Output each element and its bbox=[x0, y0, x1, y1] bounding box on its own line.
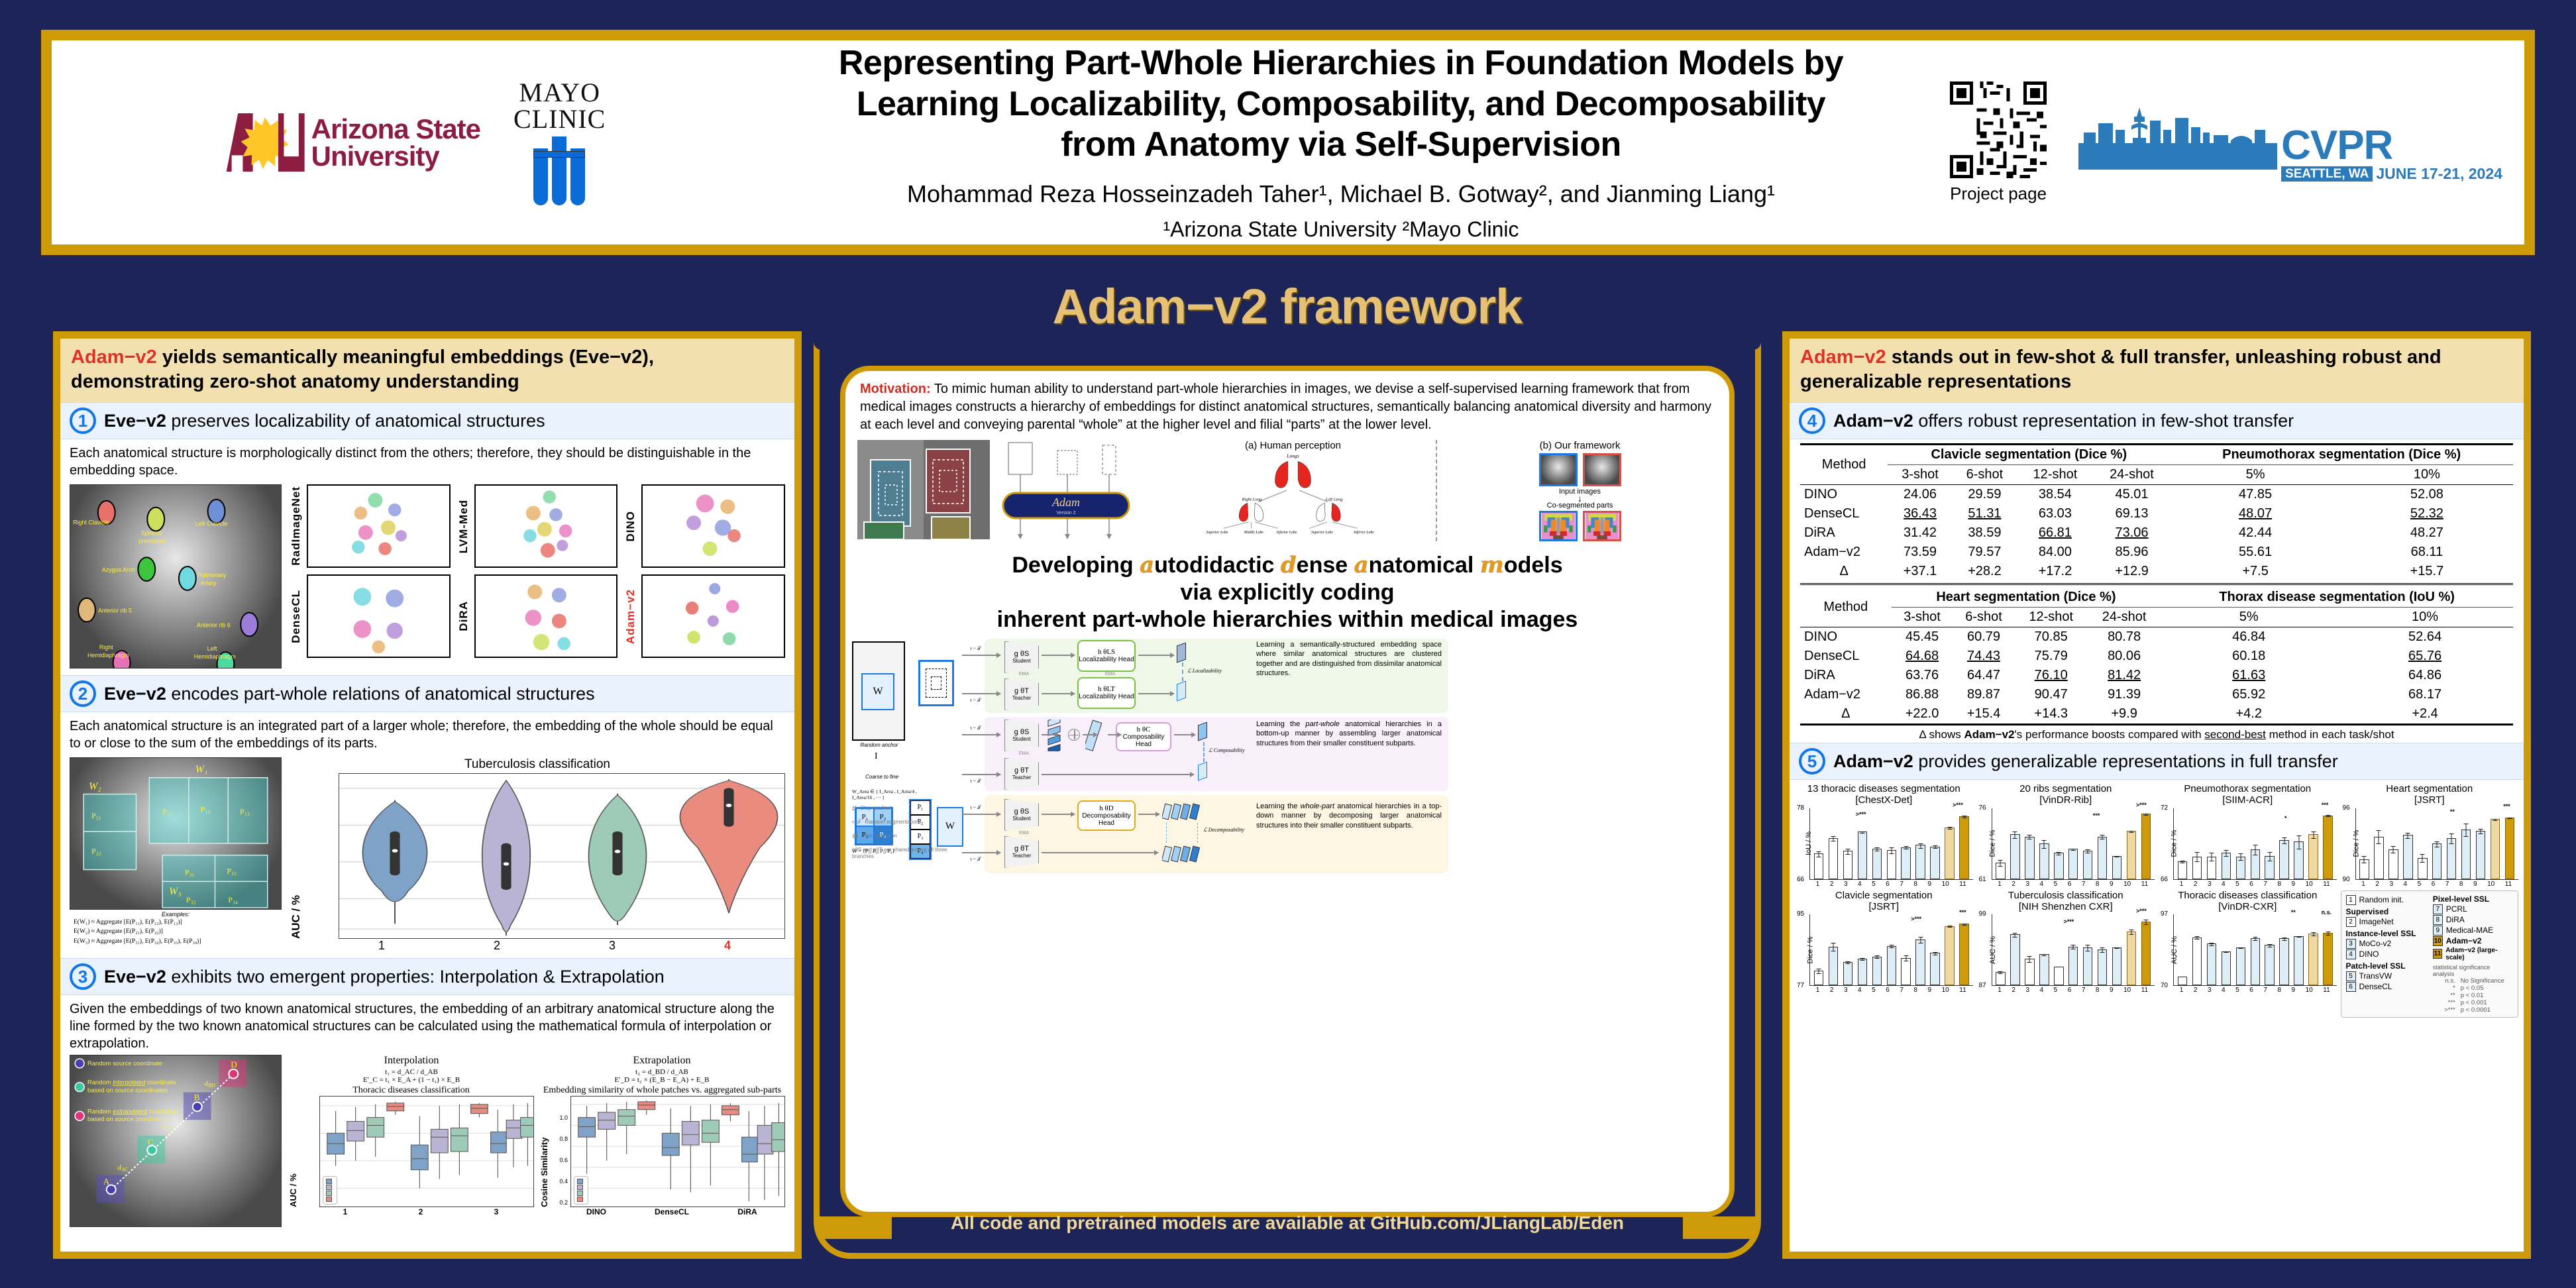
bc2-x7: 8 bbox=[2096, 881, 2100, 888]
motivation-label: Motivation: bbox=[860, 382, 931, 396]
interp-extrap-annotations: Random source coordinate Random interpol… bbox=[70, 1055, 281, 1226]
interpolation-formula: E′_C = t₁ × E_A + (1 − t₁) × E_B bbox=[288, 1076, 535, 1084]
teacher-label-dec: Teacher bbox=[1012, 853, 1031, 859]
sig-p-3: p < 0.001 bbox=[2461, 999, 2487, 1006]
svg-text:Spinous: Spinous bbox=[140, 530, 162, 537]
bc3-ymin: 66 bbox=[2161, 876, 2168, 883]
decomposability-description: Learning the whole-part anatomical hiera… bbox=[1256, 802, 1442, 831]
t2-col-1: 6-shot bbox=[1953, 608, 2015, 627]
bc1-x8: 9 bbox=[1928, 881, 1932, 888]
bc4-plot: Dice / % 96 90 *** ** bbox=[2355, 808, 2519, 880]
arrow-loc-emb-t bbox=[1138, 693, 1174, 694]
human-perception-panel: (a) Human perception Lungs Right Lung Le… bbox=[1155, 440, 1430, 541]
qr-code-icon[interactable] bbox=[1950, 81, 2047, 178]
t1-r3-c3: 85.96 bbox=[2094, 543, 2171, 562]
t1-r3-c0: 73.59 bbox=[1888, 543, 1952, 562]
center-tagline: Developing autodidactic dense anatomical… bbox=[845, 548, 1729, 634]
violin-chart-title: Tuberculosis classification bbox=[290, 757, 785, 772]
t2-r2-c0: 63.76 bbox=[1892, 666, 1953, 685]
svg-text:Hemidiaphragm: Hemidiaphragm bbox=[194, 653, 236, 660]
t2-group-header-0: Heart segmentation (Dice %) bbox=[1892, 588, 2161, 608]
composability-head: h θC Composability Head bbox=[1116, 722, 1171, 751]
tagline-letter-a1: a bbox=[1140, 552, 1154, 578]
teacher-encoder-loc: g θT Teacher bbox=[1004, 678, 1039, 710]
significance-table: n.s.No Significance *p < 0.05 **p < 0.01… bbox=[2433, 977, 2513, 1014]
tsne-label-4: DiRA bbox=[457, 601, 470, 631]
section-number-1: 1 bbox=[70, 407, 96, 434]
full-transfer-charts-row-1: 13 thoracic diseases segmentation [Chest… bbox=[1790, 780, 2524, 888]
t2-method-header: Method bbox=[1800, 588, 1892, 627]
t1-col-1: 6-shot bbox=[1953, 465, 2017, 485]
sig-sym-4: >*** bbox=[2433, 1006, 2455, 1014]
composability-description: Learning the part-whole anatomical hiera… bbox=[1256, 720, 1442, 749]
svg-text:A: A bbox=[103, 1177, 110, 1187]
desc-comp-pre: Learning the bbox=[1256, 720, 1305, 728]
mayo-clinic-logo: MAYO CLINIC bbox=[513, 80, 606, 205]
tsne-cell-densecl: DenseCL bbox=[290, 574, 451, 658]
poster-title-line-1: Representing Part-Whole Hierarchies in F… bbox=[767, 43, 1915, 125]
section-title-3: Eve−v2 exhibits two emergent properties:… bbox=[104, 967, 665, 987]
legend-stopgrad: Stop gradient bbox=[861, 803, 892, 814]
legend-label-11: Adam−v2 (large-scale) bbox=[2445, 947, 2513, 961]
bc1-subtitle: [ChestX-Det] bbox=[1795, 795, 1973, 806]
bc1-x0: 1 bbox=[1816, 881, 1820, 888]
bc7-ymax: 97 bbox=[2161, 910, 2168, 918]
t1-col-3: 24-shot bbox=[2094, 465, 2171, 485]
tagline-line-1: Developing autodidactic dense anatomical… bbox=[853, 552, 1721, 579]
localizability-description: Learning a semantically-structured embed… bbox=[1256, 640, 1442, 678]
box-interp-xcats: 1 2 3 bbox=[307, 1207, 534, 1216]
violin-yticks bbox=[305, 773, 336, 939]
legend-label-3: MoCo-v2 bbox=[2359, 939, 2392, 948]
t2-r0-c2: 70.85 bbox=[2015, 627, 2088, 647]
bc2-x0: 1 bbox=[1998, 881, 2002, 888]
bc1-x3: 4 bbox=[1858, 881, 1862, 888]
t1-r0-c4: 47.85 bbox=[2170, 485, 2341, 505]
section-title-4-rest: offers robust representation in few-shot… bbox=[1913, 411, 2294, 431]
svg-text:Hemidiaphragm: Hemidiaphragm bbox=[87, 652, 129, 659]
legend-head-pixel: Pixel-level SSL bbox=[2433, 894, 2513, 904]
svg-text:dCB: dCB bbox=[162, 1123, 173, 1132]
bc3-x9: 10 bbox=[2306, 881, 2313, 888]
t1-r1-method: DenseCL bbox=[1800, 504, 1888, 523]
bc5-x5: 6 bbox=[1886, 987, 1890, 994]
bar-chart-tb-shenzhen: Tuberculosis classification [NIH Shenzhe… bbox=[1977, 890, 2155, 1018]
section-title-2-bold: Eve−v2 bbox=[104, 684, 166, 704]
svg-text:Pulmonary: Pulmonary bbox=[198, 572, 227, 578]
section-title-5-bold: Adam−v2 bbox=[1833, 751, 1913, 771]
right-banner-rest: stands out in few-shot & full transfer, … bbox=[1800, 347, 2442, 392]
box-interp-legend bbox=[323, 1176, 337, 1205]
poster-title-line-2: from Anatomy via Self-Supervision bbox=[767, 125, 1915, 165]
mayo-line-1: MAYO bbox=[513, 80, 606, 106]
cvpr-date: JUNE 17-21, 2024 bbox=[2376, 166, 2502, 182]
box-interp-xcat-0: 1 bbox=[307, 1207, 383, 1216]
bc7-ymin: 70 bbox=[2161, 982, 2168, 989]
example-2: E(W₃) ≈ Aggregate [E(P₃₁), E(P₃₂), E(P₃₃… bbox=[74, 937, 282, 946]
comp-embedding-teacher bbox=[1198, 761, 1207, 780]
bc4-x10: 11 bbox=[2505, 881, 2512, 888]
header-logos: Arizona State University MAYO CLINIC bbox=[52, 80, 754, 205]
arrow-dec-head bbox=[1042, 814, 1075, 815]
violin-xcat-3: 4 bbox=[670, 939, 785, 953]
bc3-x2: 3 bbox=[2208, 881, 2212, 888]
localizability-head-teacher: h θLT Localizability Head bbox=[1077, 677, 1136, 709]
svg-text:based on source coordinates: based on source coordinates bbox=[87, 1115, 168, 1122]
section-title-1: Eve−v2 preserves localizability of anato… bbox=[104, 411, 545, 431]
sig-p-4: p < 0.0001 bbox=[2461, 1006, 2491, 1014]
desc-dec-em: whole-part bbox=[1301, 802, 1334, 810]
violin-ylabel: AUC / % bbox=[290, 773, 303, 939]
svg-text:C: C bbox=[148, 1138, 154, 1147]
section-title-4-bold: Adam−v2 bbox=[1833, 411, 1913, 431]
tsne-cell-radimagenet: RadImageNet bbox=[290, 484, 451, 568]
left-column-banner: Adam−v2 yields semantically meaningful e… bbox=[60, 339, 794, 402]
bc3-x4: 5 bbox=[2235, 881, 2239, 888]
arrow-loc-head-t bbox=[1042, 693, 1075, 694]
section-desc-3: Given the embeddings of two known anatom… bbox=[70, 1000, 785, 1052]
bc4-x5: 6 bbox=[2432, 881, 2436, 888]
t2-r4-c0: +22.0 bbox=[1892, 704, 1953, 724]
footnote-bold: Adam−v2 bbox=[1964, 728, 2014, 741]
t2-r3-c0: 86.88 bbox=[1892, 685, 1953, 704]
section-title-3-bold: Eve−v2 bbox=[104, 967, 166, 987]
t2-col-0: 3-shot bbox=[1892, 608, 1953, 627]
svg-text:Right Lung: Right Lung bbox=[1242, 498, 1263, 502]
svg-text:P₂₁: P₂₁ bbox=[91, 811, 101, 820]
legend-label-10: Adam−v2 bbox=[2446, 936, 2482, 945]
tsne-label-5: Adam−v2 bbox=[624, 589, 637, 644]
bc5-sig-0: >*** bbox=[1911, 916, 1921, 922]
arrow-dec-emb bbox=[1138, 814, 1159, 815]
bc4-x6: 7 bbox=[2445, 881, 2449, 888]
table-row: DINO 24.06 29.59 38.54 45.01 47.85 52.08 bbox=[1800, 485, 2513, 505]
box-extrap-plot-area bbox=[570, 1096, 785, 1207]
bar-chart-thoracic-vindrcxr: Thoracic diseases classification [VinDR-… bbox=[2159, 890, 2337, 1018]
center-inner-card: Motivation: To mimic human ability to un… bbox=[840, 366, 1735, 1217]
bc4-x3: 4 bbox=[2404, 881, 2408, 888]
teacher-label-loc: Teacher bbox=[1012, 695, 1031, 701]
left-column: Adam−v2 yields semantically meaningful e… bbox=[53, 331, 802, 1259]
section-title-2: Eve−v2 encodes part-whole relations of a… bbox=[104, 684, 595, 704]
tsne-cell-adamv2: Adam−v2 bbox=[624, 574, 785, 658]
svg-text:Artery: Artery bbox=[201, 580, 217, 586]
legend-item-9: 9Medical-MAE bbox=[2433, 926, 2513, 936]
t2-r1-c0: 64.68 bbox=[1892, 647, 1953, 666]
section-title-1-bold: Eve−v2 bbox=[104, 411, 166, 431]
bc1-sig-0: >*** bbox=[1856, 811, 1866, 818]
svg-text:Inferior Lobe: Inferior Lobe bbox=[1353, 530, 1374, 535]
bc7-bars bbox=[2174, 914, 2337, 985]
asu-pitchfork-icon bbox=[227, 108, 305, 177]
svg-text:Left: Left bbox=[207, 645, 217, 652]
full-transfer-charts-row-2: Clavicle segmentation [JSRT] Dice / % 95… bbox=[1790, 888, 2524, 1018]
bc3-x7: 8 bbox=[2277, 881, 2281, 888]
bc6-ymax: 99 bbox=[1979, 910, 1986, 918]
legend-label-7: PCRL bbox=[2446, 904, 2467, 914]
violin-chart: Tuberculosis classification AUC / % bbox=[290, 757, 785, 953]
g-teacher-dec: g θT bbox=[1014, 845, 1029, 853]
legend-sig-header: statistical significance analysis bbox=[2433, 964, 2513, 977]
tagline-word-2: ense bbox=[1297, 553, 1354, 578]
xray-annotations: Right Clavicle Spinousprocesses Left Cla… bbox=[70, 485, 281, 668]
svg-text:P₁₂: P₁₂ bbox=[201, 805, 211, 814]
legend-num-10: 10 bbox=[2433, 936, 2443, 946]
bc6-title: Tuberculosis classification bbox=[1977, 890, 2155, 902]
table-row: Adam−v2 73.59 79.57 84.00 85.96 55.61 68… bbox=[1800, 543, 2513, 562]
box-extrap-xcats: DINO DenseCL DiRA bbox=[559, 1207, 785, 1216]
t1-r3-c4: 55.61 bbox=[2170, 543, 2341, 562]
box-chart-interp-title: Thoracic diseases classification bbox=[288, 1085, 534, 1096]
bc6-xticks: 1234567891011 bbox=[1992, 986, 2155, 994]
ema-dec-label: EMA bbox=[1019, 831, 1029, 835]
t2-r4-c4: +4.2 bbox=[2161, 704, 2337, 724]
bc7-sig-1: n.s. bbox=[2322, 909, 2332, 916]
t2-col-3: 24-shot bbox=[2088, 608, 2161, 627]
svg-text:dBD: dBD bbox=[205, 1080, 215, 1089]
bc1-x9: 10 bbox=[1942, 881, 1949, 888]
ema-loc-label: EMA bbox=[1019, 672, 1029, 676]
right-column: Adam−v2 stands out in few-shot & full tr… bbox=[1782, 331, 2531, 1259]
qr-caption: Project page bbox=[1950, 184, 2047, 204]
t2-r2-c2: 76.10 bbox=[2015, 666, 2088, 685]
examples-list: E(W₁) ≈ Aggregate [E(P₁₁), E(P₁₂), E(P₁₃… bbox=[70, 918, 282, 946]
svg-text:Middle Lobe: Middle Lobe bbox=[1244, 531, 1264, 535]
bc3-plot: Dice / % 72 66 *** * bbox=[2173, 808, 2337, 880]
t2-r4-c5: +2.4 bbox=[2337, 704, 2513, 724]
concatenation-icon bbox=[1068, 729, 1080, 741]
bc2-x3: 4 bbox=[2040, 881, 2044, 888]
legend-num-8: 8 bbox=[2433, 915, 2443, 925]
anchor-w-box: W bbox=[861, 673, 894, 710]
svg-text:P₁₃: P₁₃ bbox=[240, 807, 250, 816]
legend-num-4: 4 bbox=[2346, 949, 2356, 959]
footnote-post: 's performance boosts compared with bbox=[2015, 728, 2205, 741]
bc1-plot: IoU / % 78 66 >*** >*** bbox=[1809, 808, 1973, 880]
sig-sym-0: n.s. bbox=[2433, 977, 2455, 985]
legend-item-1: 1Random init. bbox=[2346, 895, 2426, 905]
legend-num-1: 1 bbox=[2346, 895, 2356, 905]
bc4-xticks: 1234567891011 bbox=[2355, 880, 2519, 888]
bc5-sig-1: *** bbox=[1959, 909, 1966, 916]
t1-r2-method: DiRA bbox=[1800, 523, 1888, 543]
mayo-shield-icon bbox=[529, 136, 590, 205]
architecture-diagram: W Random anchor I Coarse to fine W_Area … bbox=[852, 637, 1723, 876]
box-extrap-yt-1: 0.4 bbox=[559, 1178, 568, 1185]
interpolation-t: t₁ = d_AC / d_AB bbox=[288, 1068, 535, 1076]
bc5-xticks: 1234567891011 bbox=[1809, 986, 1973, 994]
section-body-1: Each anatomical structure is morphologic… bbox=[60, 439, 794, 671]
table-row: Δ +37.1 +28.2 +17.2 +12.9 +7.5 +15.7 bbox=[1800, 562, 2513, 581]
t2-r0-c3: 80.78 bbox=[2088, 627, 2161, 647]
t1-r0-c0: 24.06 bbox=[1888, 485, 1952, 505]
sig-row-2: **p < 0.01 bbox=[2433, 992, 2513, 999]
head-loc-t-symbol: h θLT bbox=[1098, 685, 1115, 693]
tsne-label-1: LVM-Med bbox=[457, 500, 470, 553]
head-loc-s-name: Localizability Head bbox=[1079, 656, 1134, 663]
violin-xcat-2: 3 bbox=[555, 939, 670, 953]
legend-concat: Concatenation bbox=[863, 831, 897, 842]
bc2-ymin: 61 bbox=[1979, 876, 1986, 883]
arrow-comp-teacher bbox=[962, 774, 1000, 775]
legend-item-8: 8DiRA bbox=[2433, 915, 2513, 925]
bar-chart-vindrrib: 20 ribs segmentation [VinDR-Rib] Dice / … bbox=[1977, 784, 2155, 888]
bc2-x8: 9 bbox=[2110, 881, 2114, 888]
legend-label-8: DiRA bbox=[2446, 915, 2465, 924]
arrow-comp-teacher-out bbox=[1042, 774, 1194, 775]
dec-loss-links bbox=[1166, 823, 1198, 843]
tagline-word-1: utodidactic bbox=[1154, 553, 1281, 578]
part-whole-figure-row: W₁W₂W₃ P₁₁P₁₂P₁₃ P₂₁P₂₂ P₃₁P₃₃ P₃₂P₃₄ Ex… bbox=[70, 757, 785, 953]
header-text-block: Representing Part-Whole Hierarchies in F… bbox=[754, 43, 1928, 241]
bc3-sig-0: * bbox=[2284, 815, 2287, 822]
arrow-loc-student bbox=[962, 655, 1000, 656]
extrapolation-formula: E′_D = t₂ × (E_B − E_A) + E_B bbox=[539, 1076, 785, 1084]
t1-r2-c3: 73.06 bbox=[2094, 523, 2171, 543]
tsne-panel-grid: RadImageNet LVM-Med bbox=[290, 484, 785, 658]
bc3-x10: 11 bbox=[2323, 881, 2330, 888]
tsne-plot-3 bbox=[307, 574, 451, 658]
input-image-1 bbox=[1539, 453, 1578, 486]
t2-r1-c3: 80.06 bbox=[2088, 647, 2161, 666]
tagline-letter-a2: a bbox=[1354, 552, 1369, 578]
svg-text:based on source coordinates: based on source coordinates bbox=[87, 1087, 168, 1094]
t1-col-5: 10% bbox=[2341, 465, 2513, 485]
sig-row-1: *p < 0.05 bbox=[2433, 985, 2513, 992]
sig-row-3: ***p < 0.001 bbox=[2433, 999, 2513, 1006]
bc4-ymax: 96 bbox=[2343, 804, 2350, 812]
t2-r2-method: DiRA bbox=[1800, 666, 1892, 685]
bc5-x8: 9 bbox=[1928, 987, 1932, 994]
author-list: Mohammad Reza Hosseinzadeh Taher¹, Micha… bbox=[767, 180, 1915, 208]
bc4-sig-1: *** bbox=[2503, 803, 2510, 810]
poster-header: Arizona State University MAYO CLINIC Rep… bbox=[41, 30, 2535, 255]
t1-r3-c5: 68.11 bbox=[2341, 543, 2513, 562]
tagline-prefix: Developing bbox=[1012, 553, 1140, 578]
legend-right-col: Pixel-level SSL 7PCRL 8DiRA 9Medical-MAE… bbox=[2433, 894, 2513, 1014]
violin-plot-area bbox=[339, 773, 785, 939]
bc1-bars bbox=[1810, 808, 1973, 879]
bc5-x9: 10 bbox=[1942, 987, 1949, 994]
bc5-subtitle: [JSRT] bbox=[1795, 902, 1973, 913]
cvpr-title: CVPR bbox=[2281, 125, 2502, 166]
tsne-plot-1 bbox=[474, 484, 618, 568]
t1-r0-c5: 52.08 bbox=[2341, 485, 2513, 505]
bc4-x8: 9 bbox=[2473, 881, 2477, 888]
t2-r4-c2: +14.3 bbox=[2015, 704, 2088, 724]
box-extrap-yticks: 1.0 0.8 0.6 0.4 0.2 bbox=[551, 1096, 568, 1207]
svg-text:Version 2: Version 2 bbox=[1056, 511, 1075, 515]
box-extrap-xcat-2: DiRA bbox=[710, 1207, 785, 1216]
left-banner-accent: Adam−v2 bbox=[71, 347, 157, 368]
svg-text:dAC: dAC bbox=[118, 1164, 129, 1173]
student-label-dec: Student bbox=[1012, 816, 1031, 822]
asu-logo-text: Arizona State University bbox=[311, 115, 480, 170]
t2-r0-method: DINO bbox=[1800, 627, 1892, 647]
tsne-plot-4 bbox=[474, 574, 618, 658]
bc4-sig-0: ** bbox=[2450, 808, 2455, 815]
center-panel-title: Adam−v2 framework bbox=[814, 278, 1761, 335]
motivation-paragraph: Motivation: To mimic human ability to un… bbox=[845, 371, 1729, 436]
t1-r0-c1: 29.59 bbox=[1953, 485, 2017, 505]
head-comp-symbol: h θC bbox=[1137, 725, 1151, 733]
student-encoder-comp: g θS Student bbox=[1004, 720, 1039, 751]
t1-r1-c1: 51.31 bbox=[1953, 504, 2017, 523]
motivation-text: To mimic human ability to understand par… bbox=[860, 382, 1711, 432]
bc3-x5: 6 bbox=[2249, 881, 2253, 888]
teacher-encoder-dec: g θT Teacher bbox=[1004, 836, 1039, 868]
g-teacher-comp: g θT bbox=[1014, 767, 1029, 775]
bc6-ymin: 87 bbox=[1979, 982, 1986, 989]
t1-r3-c1: 79.57 bbox=[1953, 543, 2017, 562]
bc2-x10: 11 bbox=[2141, 881, 2148, 888]
table-footnote: Δ shows Adam−v2's performance boosts com… bbox=[1800, 724, 2513, 743]
panel-b-label: (b) Our framework bbox=[1442, 440, 1717, 451]
svg-text:Inferior Lobe: Inferior Lobe bbox=[1276, 530, 1297, 535]
asu-line-1: Arizona State bbox=[311, 115, 480, 142]
interp-extrap-xray: Random source coordinate Random interpol… bbox=[70, 1055, 282, 1227]
right-column-banner: Adam−v2 stands out in few-shot & full tr… bbox=[1790, 339, 2524, 402]
student-label-loc: Student bbox=[1012, 658, 1031, 664]
bc4-ymin: 90 bbox=[2343, 876, 2350, 883]
t2-r1-c1: 74.43 bbox=[1953, 647, 2015, 666]
bc4-title: Heart segmentation bbox=[2341, 784, 2519, 795]
tsne-label-0: RadImageNet bbox=[290, 486, 303, 566]
t1-col-4: 5% bbox=[2170, 465, 2341, 485]
input-image-2 bbox=[1583, 453, 1621, 486]
svg-text:Superior Lobe: Superior Lobe bbox=[1207, 531, 1228, 535]
t2-group-header-1: Thorax disease segmentation (IoU %) bbox=[2161, 588, 2513, 608]
bc5-x4: 5 bbox=[1872, 987, 1876, 994]
project-page-qr[interactable]: Project page bbox=[1950, 81, 2047, 204]
bc3-x6: 7 bbox=[2263, 881, 2267, 888]
arrow-loc-emb-s bbox=[1138, 655, 1174, 656]
violin-xcat-1: 2 bbox=[439, 939, 555, 953]
section-desc-2: Each anatomical structure is an integrat… bbox=[70, 718, 785, 752]
svg-text:Lungs: Lungs bbox=[1286, 453, 1299, 459]
bc5-plot: Dice / % 95 77 *** >*** bbox=[1809, 914, 1973, 986]
bc6-sig-1: >*** bbox=[2136, 908, 2147, 914]
bc4-x9: 10 bbox=[2487, 881, 2495, 888]
section-title-2-rest: encodes part-whole relations of anatomic… bbox=[166, 684, 595, 704]
head-dec-symbol: h θD bbox=[1099, 804, 1113, 812]
adam-model-block: Adam Version 2 bbox=[996, 440, 1149, 539]
table-row: Adam−v2 86.88 89.87 90.47 91.39 65.92 68… bbox=[1800, 685, 2513, 704]
footnote-underline: second-best bbox=[2204, 728, 2266, 741]
t2-r0-c1: 60.79 bbox=[1953, 627, 2015, 647]
svg-text:Superior Lobe: Superior Lobe bbox=[1311, 531, 1333, 535]
bar-chart-legend: 1Random init. Supervised 2ImageNet Insta… bbox=[2341, 890, 2519, 1018]
box-chart-interp: Thoracic diseases classification AUC / % bbox=[288, 1085, 534, 1216]
localizability-head-student: h θLS Localizability Head bbox=[1077, 640, 1136, 672]
comp-embedding-student bbox=[1198, 722, 1207, 741]
bc1-x4: 5 bbox=[1872, 881, 1876, 888]
table-row: DiRA 31.42 38.59 66.81 73.06 42.44 48.27 bbox=[1800, 523, 2513, 543]
tau-label-4: τ ~ 𝒯 bbox=[970, 778, 981, 784]
tau-label-2: τ ~ 𝒯 bbox=[970, 697, 981, 704]
bc2-sig-0: *** bbox=[2093, 812, 2100, 819]
t2-r4-method: Δ bbox=[1800, 704, 1892, 724]
bc1-x7: 8 bbox=[1913, 881, 1917, 888]
svg-text:D: D bbox=[231, 1060, 237, 1069]
multiscale-crops bbox=[918, 660, 954, 706]
bc5-x7: 8 bbox=[1913, 987, 1917, 994]
seattle-skyline-icon bbox=[2078, 103, 2277, 182]
bc6-plot: AUC / % 99 87 >*** >*** bbox=[1992, 914, 2155, 986]
violin-xcats: 1 2 3 4 bbox=[324, 939, 785, 953]
teacher-encoder-comp: g θT Teacher bbox=[1004, 758, 1039, 790]
t1-r3-c2: 84.00 bbox=[2017, 543, 2094, 562]
